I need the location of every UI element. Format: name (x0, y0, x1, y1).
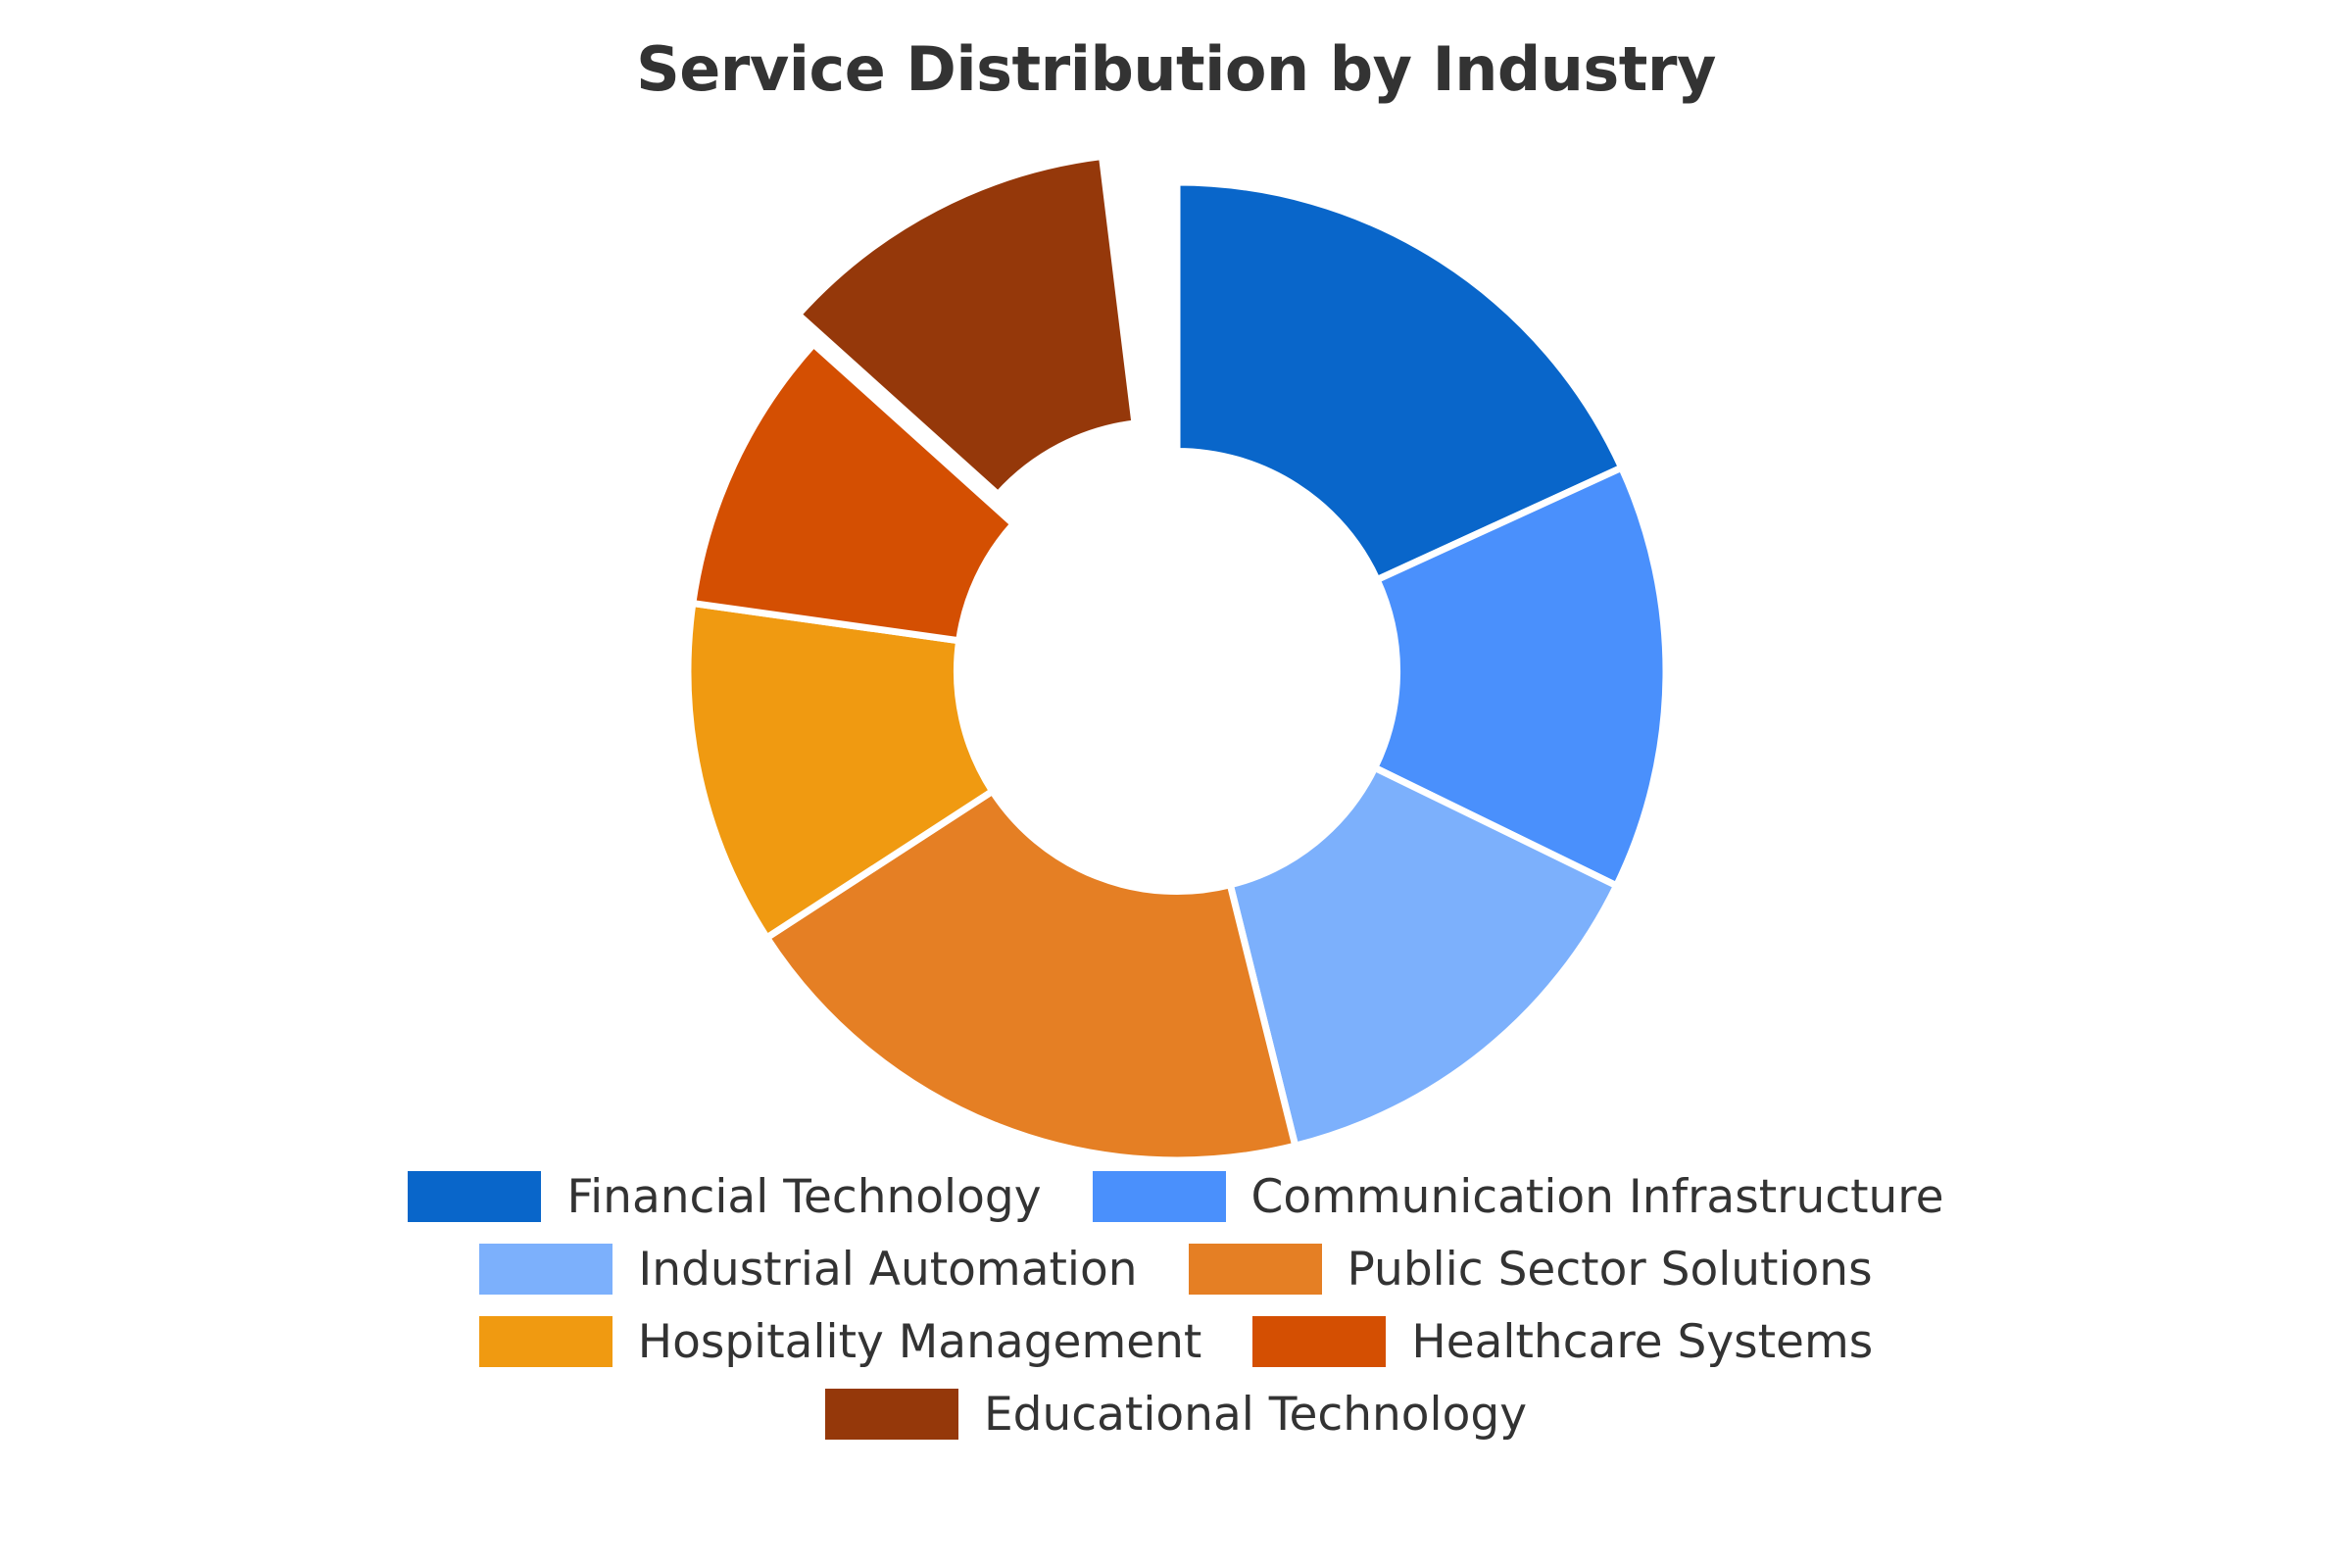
legend-item[interactable]: Educational Technology (825, 1389, 1527, 1440)
legend-item-label: Industrial Automation (638, 1247, 1137, 1293)
legend-item[interactable]: Healthcare Systems (1252, 1316, 1873, 1367)
legend-row: Hospitality ManagementHealthcare Systems (479, 1316, 1874, 1367)
chart-figure: Service Distribution by Industry Financi… (0, 0, 2352, 1568)
legend-item-label: Educational Technology (984, 1392, 1527, 1438)
legend-swatch-icon (408, 1171, 541, 1222)
legend-item[interactable]: Public Sector Solutions (1189, 1244, 1873, 1295)
legend-item[interactable]: Financial Technology (408, 1171, 1041, 1222)
legend-item-label: Hospitality Management (638, 1319, 1202, 1365)
donut-slice-group (688, 157, 1666, 1160)
legend-row: Educational Technology (825, 1389, 1527, 1440)
legend-swatch-icon (825, 1389, 958, 1440)
legend-item-label: Financial Technology (566, 1174, 1041, 1220)
legend-item[interactable]: Industrial Automation (479, 1244, 1137, 1295)
legend-item[interactable]: Communication Infrastructure (1093, 1171, 1944, 1222)
legend-swatch-icon (479, 1316, 612, 1367)
legend-row: Industrial AutomationPublic Sector Solut… (479, 1244, 1872, 1295)
donut-chart-svg (0, 0, 2352, 1235)
chart-legend: Financial TechnologyCommunication Infras… (0, 1171, 2352, 1440)
legend-item-label: Public Sector Solutions (1347, 1247, 1873, 1293)
legend-swatch-icon (1189, 1244, 1322, 1295)
legend-swatch-icon (1093, 1171, 1226, 1222)
legend-item[interactable]: Hospitality Management (479, 1316, 1202, 1367)
legend-row: Financial TechnologyCommunication Infras… (408, 1171, 1943, 1222)
legend-item-label: Communication Infrastructure (1251, 1174, 1944, 1220)
donut-chart-area (0, 0, 2352, 1235)
legend-swatch-icon (1252, 1316, 1386, 1367)
legend-swatch-icon (479, 1244, 612, 1295)
legend-item-label: Healthcare Systems (1411, 1319, 1873, 1365)
